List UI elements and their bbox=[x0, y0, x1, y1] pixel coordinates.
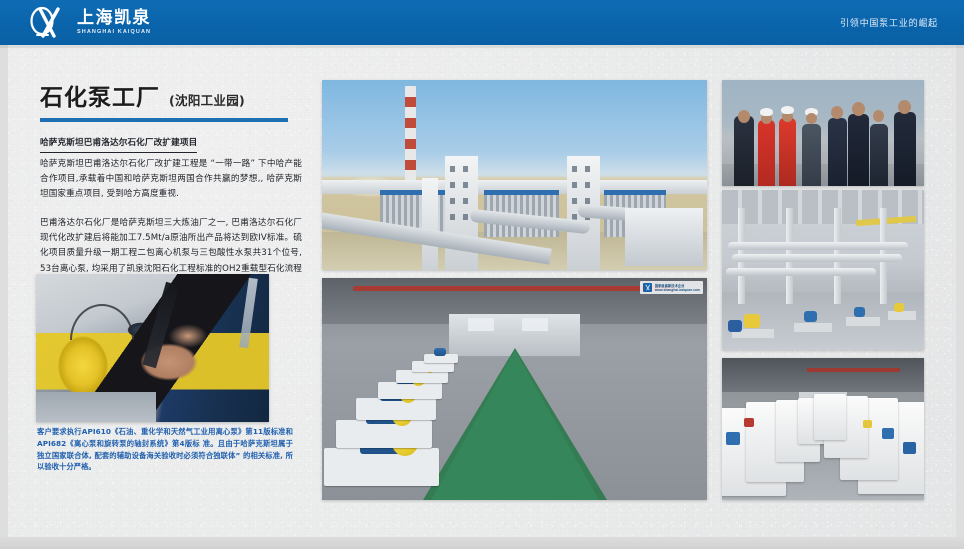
project-lead-heading: 哈萨克斯坦巴甫洛达尔石化厂改扩建项目 bbox=[40, 136, 197, 153]
page-title-main: 石化泵工厂 bbox=[40, 78, 160, 112]
workshop-green-aisle-inner bbox=[431, 350, 599, 500]
photo-cable-loop bbox=[70, 304, 134, 340]
page-left-edge bbox=[0, 45, 8, 537]
warehouse-red-beam bbox=[807, 368, 900, 372]
kaiquan-watermark-logo-icon bbox=[643, 283, 652, 292]
refinery-chimney bbox=[405, 86, 416, 182]
watermark-line-2: www.shanghai-kaiquan.com bbox=[655, 288, 700, 292]
pump-hall-pipes-photo bbox=[722, 190, 924, 350]
delegation-visit-photo-art bbox=[722, 80, 924, 186]
page-bottom-edge bbox=[0, 537, 964, 549]
refinery-plant-photo bbox=[322, 80, 707, 270]
brand-name-en: SHANGHAI KAIQUAN bbox=[77, 30, 151, 36]
photo-collage: 国家级高新技术企业 www.shanghai-kaiquan.com bbox=[322, 80, 924, 500]
pump-hall-pipes-photo-art bbox=[722, 190, 924, 350]
brand-name-cn: 上海凯泉 bbox=[77, 10, 151, 27]
refinery-plant-photo-art bbox=[322, 80, 707, 270]
header-bar: 上海凯泉 SHANGHAI KAIQUAN 引领中国泵工业的崛起 bbox=[0, 0, 964, 45]
workshop-aisle-photo-art: 国家级高新技术企业 www.shanghai-kaiquan.com bbox=[322, 278, 707, 500]
header-tagline: 引领中国泵工业的崛起 bbox=[840, 16, 938, 29]
brand-logo[interactable]: 上海凯泉 SHANGHAI KAIQUAN bbox=[28, 6, 151, 39]
photo-watermark: 国家级高新技术企业 www.shanghai-kaiquan.com bbox=[640, 281, 703, 294]
technician-measuring-photo-art bbox=[36, 274, 269, 422]
warehouse-roof bbox=[722, 358, 924, 392]
text-column: 石化泵工厂 (沈阳工业园) 哈萨克斯坦巴甫洛达尔石化厂改扩建项目 哈萨克斯坦巴甫… bbox=[40, 78, 302, 292]
page-right-edge bbox=[956, 45, 964, 537]
workshop-aisle-photo: 国家级高新技术企业 www.shanghai-kaiquan.com bbox=[322, 278, 707, 500]
page-title: 石化泵工厂 (沈阳工业园) bbox=[40, 78, 302, 112]
white-pumps-warehouse-photo-art bbox=[722, 358, 924, 500]
photo-caption-text: 客户要求执行API610《石油、重化学和天然气工业用离心泵》第11版标准和API… bbox=[37, 426, 293, 473]
page-title-sub: (沈阳工业园) bbox=[169, 90, 245, 109]
workshop-crane-rail bbox=[353, 286, 676, 291]
title-underline-rule bbox=[40, 118, 288, 122]
photo-floor-band bbox=[36, 392, 156, 422]
photo-sleeve-stripe bbox=[239, 278, 258, 349]
delegation-visit-photo bbox=[722, 80, 924, 186]
refinery-building bbox=[625, 208, 703, 266]
refinery-column bbox=[422, 178, 438, 270]
photo-strap bbox=[142, 282, 179, 369]
kaiquan-k-monogram-icon bbox=[28, 6, 70, 39]
presentation-slide: 上海凯泉 SHANGHAI KAIQUAN 引领中国泵工业的崛起 石化泵工厂 (… bbox=[0, 0, 964, 549]
technician-measuring-photo bbox=[36, 274, 269, 422]
body-paragraph-1: 哈萨克斯坦巴甫洛达尔石化厂改扩建工程是 “一带一路” 下中哈产能合作项目,承载着… bbox=[40, 157, 302, 203]
white-pumps-warehouse-photo bbox=[722, 358, 924, 500]
